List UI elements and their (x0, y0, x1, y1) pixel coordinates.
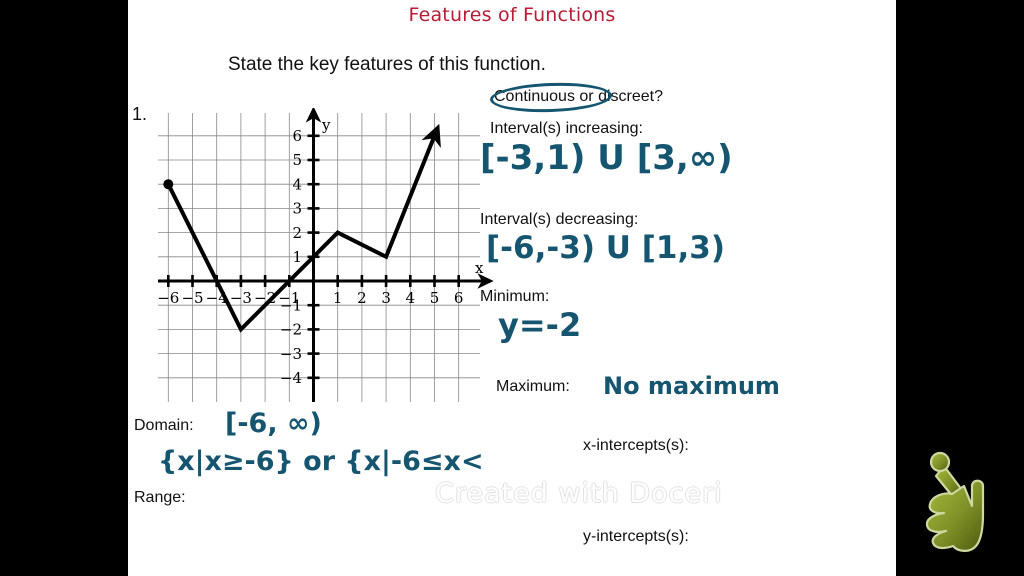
maximum-answer: No maximum (603, 372, 780, 400)
increasing-answer: [-3,1) U [3,∞) (480, 138, 733, 178)
pointing-hand-icon[interactable] (918, 440, 1008, 560)
xtick--6: −6 (157, 289, 179, 307)
minimum-label: Minimum: (480, 288, 549, 306)
maximum-label: Maximum: (496, 378, 570, 396)
domain-answer-set-notation: {x|x≥-6} or {x|-6≤x< (158, 446, 484, 477)
domain-label: Domain: (134, 417, 194, 435)
xtick--3: −3 (230, 289, 252, 307)
function-graph: −6 −5 −4 −3 −2 −1 1 2 3 4 5 6 6 5 4 3 2 (150, 108, 494, 408)
domain-answer: [-6, ∞) (225, 408, 322, 439)
ytick-3: 3 (292, 200, 302, 218)
y-axis-label: y (321, 116, 331, 134)
decreasing-label: Interval(s) decreasing: (480, 211, 638, 229)
ytick-6: 6 (292, 127, 302, 145)
xtick-3: 3 (381, 289, 391, 307)
ytick-5: 5 (292, 151, 302, 169)
ytick--4: −4 (280, 369, 302, 387)
ytick-2: 2 (292, 224, 302, 242)
slide-prompt: State the key features of this function. (228, 54, 546, 76)
x-axis-label: x (475, 259, 484, 277)
xtick-4: 4 (406, 289, 416, 307)
xtick--5: −5 (181, 289, 203, 307)
ytick-4: 4 (292, 175, 302, 193)
decreasing-answer: [-6,-3) U [1,3) (486, 230, 725, 266)
closed-endpoint-dot (163, 179, 173, 189)
graph-svg: −6 −5 −4 −3 −2 −1 1 2 3 4 5 6 6 5 4 3 2 (150, 108, 494, 408)
letterbox-bar-left (0, 0, 128, 576)
screenshot-root: Features of Functions State the key feat… (0, 0, 1024, 576)
question-number: 1. (132, 104, 147, 125)
minimum-answer: y=-2 (498, 306, 581, 344)
range-label: Range: (134, 489, 186, 507)
xtick-5: 5 (430, 289, 440, 307)
y-intercepts-label: y-intercepts(s): (583, 528, 689, 546)
ytick--3: −3 (280, 345, 302, 363)
x-intercepts-label: x-intercepts(s): (583, 437, 689, 455)
increasing-label: Interval(s) increasing: (490, 120, 643, 138)
ytick-1: 1 (292, 248, 302, 266)
doceri-watermark: Created with Doceri (435, 478, 723, 509)
xtick-6: 6 (454, 289, 464, 307)
xtick-2: 2 (357, 289, 367, 307)
ytick--1: −1 (280, 296, 302, 314)
ytick--2: −2 (280, 321, 302, 339)
continuous-circle-annotation (490, 81, 613, 114)
slide-title: Features of Functions (128, 4, 896, 26)
xtick-1: 1 (333, 289, 343, 307)
